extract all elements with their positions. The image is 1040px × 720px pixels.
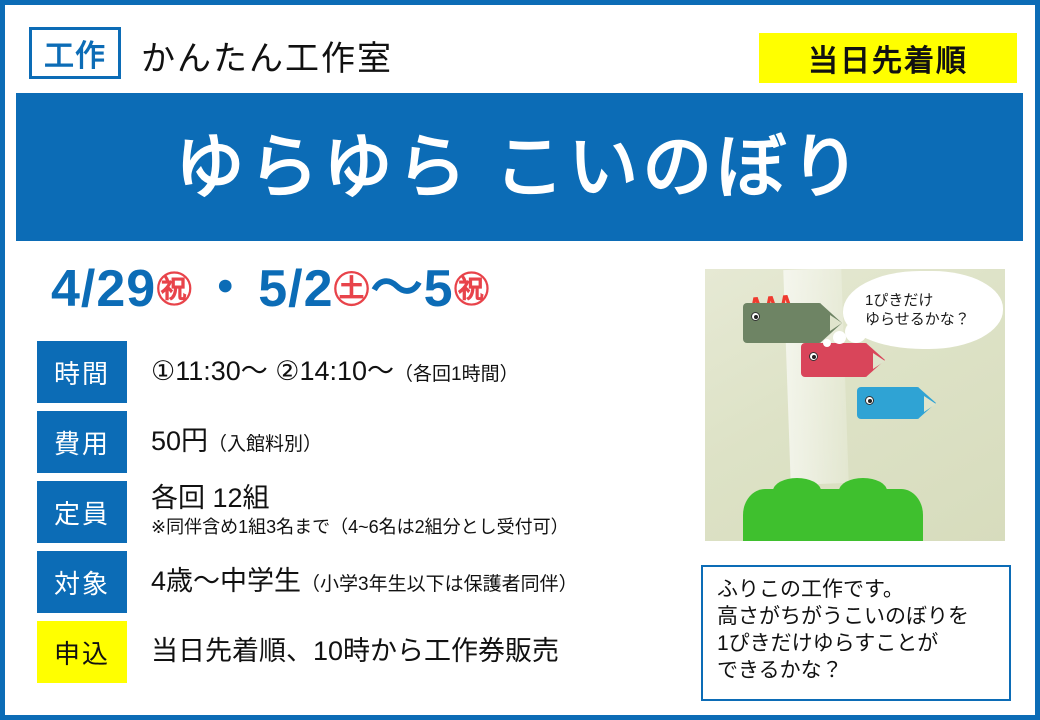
- saturday-mark-icon: ㊏: [334, 269, 371, 310]
- date-separator: ・: [193, 260, 258, 318]
- poster-header: 工作 かんたん工作室 当日先着順: [5, 5, 1035, 89]
- thought-bubble-line-1: 1ぴきだけ: [865, 291, 981, 311]
- target-age: 4歳〜中学生: [151, 566, 301, 596]
- thought-dot-small: [823, 339, 831, 347]
- description-line-4: できるかな？: [717, 658, 1009, 685]
- category-badge-label: 工作: [44, 31, 106, 75]
- first-come-badge: 当日先着順: [759, 33, 1017, 83]
- table-row: 時間 ①11:30〜 ②14:10〜（各回1時間）: [37, 341, 677, 403]
- koi-eye-icon: [751, 312, 760, 321]
- date-part-1: 4/29: [51, 260, 156, 318]
- craft-photo: ∧∧∧ 1ぴきだけ ゆらせるかな？: [705, 269, 1005, 541]
- application-method: 当日先着順、10時から工作券販売: [151, 636, 677, 667]
- row-value-time-main: ①11:30〜 ②14:10〜（各回1時間）: [151, 356, 677, 387]
- row-value-target-main: 4歳〜中学生（小学3年生以下は保護者同伴）: [151, 566, 677, 597]
- date-part-2: 5/2: [258, 260, 333, 318]
- time-sessions: ①11:30〜 ②14:10〜: [151, 356, 394, 386]
- koinobori-red-icon: [801, 343, 867, 377]
- time-duration-note: （各回1時間）: [394, 364, 519, 385]
- first-come-badge-label: 当日先着順: [808, 36, 968, 80]
- title-banner: ゆらゆら こいのぼり: [16, 93, 1023, 241]
- koinobori-green-icon: [743, 303, 821, 343]
- event-date: 4/29㊗・5/2㊏〜5㊗: [51, 261, 491, 318]
- row-value-fee: 50円（入館料別）: [127, 411, 677, 473]
- date-range-end: 〜5: [371, 260, 454, 318]
- koi-eye-icon: [809, 352, 818, 361]
- room-name: かんたん工作室: [141, 31, 393, 80]
- table-row: 定員 各回 12組 ※同伴含め1組3名まで（4~6名は2組分とし受付可）: [37, 481, 677, 543]
- description-line-1: ふりこの工作です。: [717, 577, 1009, 604]
- holiday-mark-icon-2: ㊗: [453, 269, 490, 310]
- fee-note: （入館料別）: [208, 434, 322, 455]
- category-badge: 工作: [29, 27, 121, 79]
- thought-bubble-line-2: ゆらせるかな？: [865, 310, 981, 330]
- table-row: 費用 50円（入館料別）: [37, 411, 677, 473]
- target-note: （小学3年生以下は保護者同伴）: [301, 574, 578, 595]
- fee-amount: 50円: [151, 426, 208, 456]
- row-label-target: 対象: [37, 551, 127, 613]
- green-grass-base: [743, 489, 923, 541]
- table-row: 申込 当日先着順、10時から工作券販売: [37, 621, 677, 683]
- row-label-application: 申込: [37, 621, 127, 683]
- page-title: ゆらゆら こいのぼり: [175, 132, 864, 202]
- row-value-application: 当日先着順、10時から工作券販売: [127, 621, 677, 683]
- table-row: 対象 4歳〜中学生（小学3年生以下は保護者同伴）: [37, 551, 677, 613]
- row-value-fee-main: 50円（入館料別）: [151, 426, 677, 457]
- description-box: ふりこの工作です。 高さがちがうこいのぼりを 1ぴきだけゆらすことが できるかな…: [701, 565, 1011, 701]
- koinobori-blue-icon: [857, 387, 919, 419]
- capacity-amount: 各回 12組: [151, 483, 677, 514]
- row-value-capacity: 各回 12組 ※同伴含め1組3名まで（4~6名は2組分とし受付可）: [127, 481, 677, 543]
- row-label-time: 時間: [37, 341, 127, 403]
- thought-bubble: 1ぴきだけ ゆらせるかな？: [843, 271, 1003, 349]
- description-line-2: 高さがちがうこいのぼりを: [717, 604, 1009, 631]
- event-details-table: 時間 ①11:30〜 ②14:10〜（各回1時間） 費用 50円（入館料別） 定…: [37, 341, 677, 691]
- description-line-3: 1ぴきだけゆらすことが: [717, 631, 1009, 658]
- row-value-time: ①11:30〜 ②14:10〜（各回1時間）: [127, 341, 677, 403]
- row-label-capacity: 定員: [37, 481, 127, 543]
- holiday-mark-icon-1: ㊗: [156, 269, 193, 310]
- row-label-fee: 費用: [37, 411, 127, 473]
- event-poster: 工作 かんたん工作室 当日先着順 ゆらゆら こいのぼり 4/29㊗・5/2㊏〜5…: [0, 0, 1040, 720]
- row-value-target: 4歳〜中学生（小学3年生以下は保護者同伴）: [127, 551, 677, 613]
- koi-eye-icon: [865, 396, 874, 405]
- capacity-note: ※同伴含め1組3名まで（4~6名は2組分とし受付可）: [151, 516, 677, 539]
